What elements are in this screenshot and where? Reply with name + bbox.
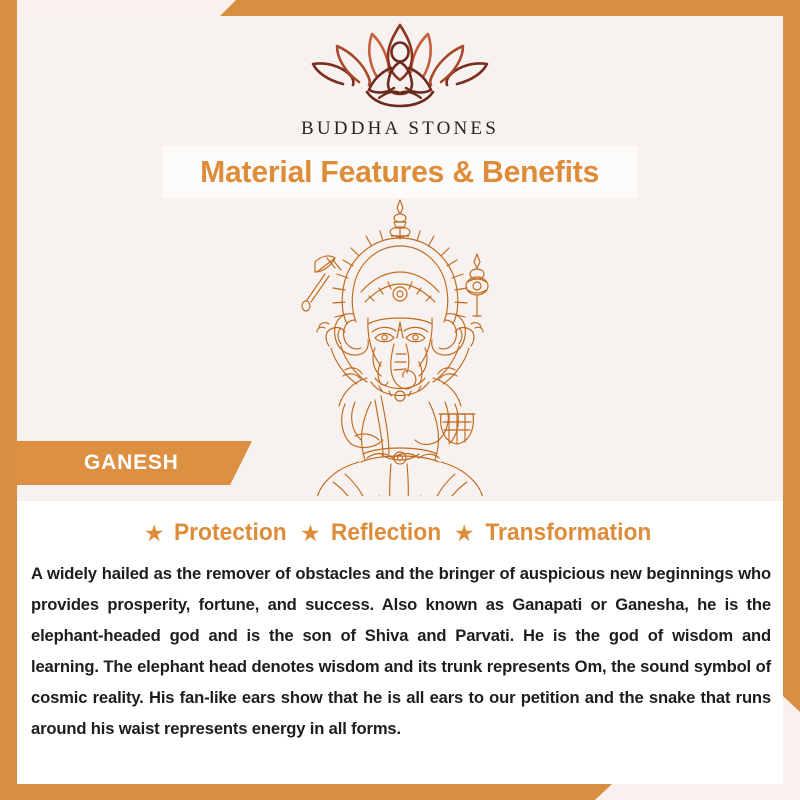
frame-band-top bbox=[220, 0, 800, 16]
feature-label: Transformation bbox=[486, 519, 652, 547]
poster-root: BUDDHA STONES Material Features & Benefi… bbox=[0, 0, 800, 800]
frame-band-bottom bbox=[0, 784, 612, 800]
ribbon-label: GANESH bbox=[84, 451, 179, 475]
star-icon: ★ bbox=[454, 522, 475, 545]
star-icon: ★ bbox=[144, 522, 165, 545]
feature-item-reflection: ★ Reflection bbox=[300, 519, 444, 547]
brand-logo: BUDDHA STONES bbox=[0, 22, 800, 140]
star-icon: ★ bbox=[300, 522, 321, 545]
features-row: ★ Protection ★ Reflection ★ Transformati… bbox=[17, 519, 783, 547]
ganesha-illustration bbox=[255, 196, 545, 496]
lotus-meditation-figure-icon bbox=[307, 22, 493, 114]
description-paragraph: A widely hailed as the remover of obstac… bbox=[31, 558, 771, 744]
feature-label: Protection bbox=[174, 519, 287, 547]
ganesha-line-art-illustration bbox=[255, 196, 545, 496]
feature-item-transformation: ★ Transformation bbox=[454, 519, 656, 547]
ganesh-ribbon: GANESH bbox=[17, 441, 252, 485]
title-banner: Material Features & Benefits bbox=[162, 146, 638, 198]
page-title: Material Features & Benefits bbox=[201, 154, 600, 190]
feature-label: Reflection bbox=[331, 519, 441, 547]
feature-item-protection: ★ Protection bbox=[144, 519, 290, 547]
brand-name: BUDDHA STONES bbox=[0, 118, 800, 140]
